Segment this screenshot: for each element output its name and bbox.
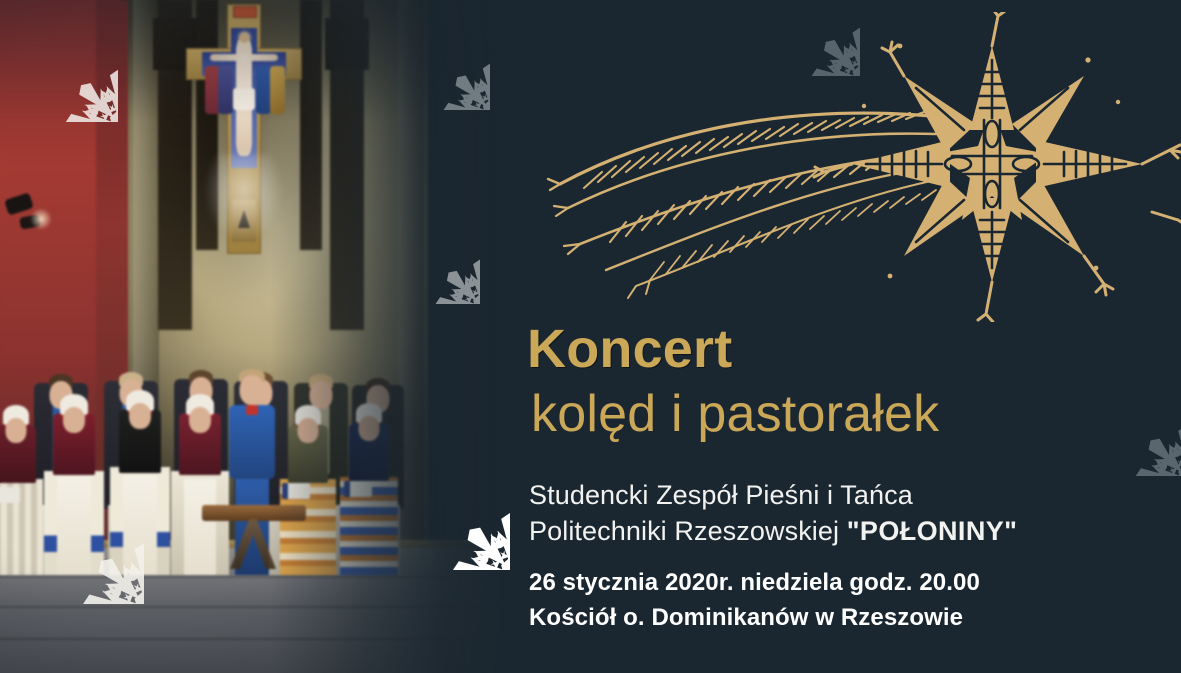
headline-line-2: kolęd i pastorałek: [531, 388, 939, 440]
crucifix-titulus: [233, 6, 257, 18]
choir-member: [282, 399, 334, 575]
crucifix-figure-3: [256, 66, 271, 114]
choir-member: [112, 385, 168, 575]
event-date-time: 26 stycznia 2020r. niedziela godz. 20.00: [529, 566, 980, 601]
concert-poster: Koncert kolęd i pastorałek Studencki Zes…: [0, 0, 1181, 673]
crucifix-loincloth: [233, 88, 255, 110]
ensemble-line-2-prefix: Politechniki Rzeszowskiej: [529, 516, 847, 546]
ensemble-line-2: Politechniki Rzeszowskiej "POŁONINY": [529, 514, 1017, 550]
crucifix-figure-2: [218, 66, 233, 114]
crucifix-christ-arms: [210, 54, 278, 61]
headline-line-1: Koncert: [527, 322, 732, 376]
choir-member: [0, 399, 42, 575]
choir-member-dulcimer-player: [216, 361, 288, 575]
event-details: 26 stycznia 2020r. niedziela godz. 20.00…: [529, 566, 980, 636]
stage-spotlight-beam: [30, 208, 52, 230]
choir-member: [342, 395, 396, 575]
step-line-1: [0, 576, 520, 578]
event-venue: Kościół o. Dominikanów w Rzeszowie: [529, 601, 980, 636]
step-line-3: [0, 638, 520, 640]
byzantine-painted-crucifix: [186, 4, 302, 254]
crucifix-figure-4: [270, 66, 285, 114]
ensemble-quoted-name: "POŁONINY": [847, 516, 1018, 546]
step-line-2: [0, 606, 520, 608]
choir-group: [0, 300, 424, 575]
ensemble-name: Studencki Zespół Pieśni i Tańca Politech…: [529, 478, 1017, 549]
poster-text-block: Koncert kolęd i pastorałek Studencki Zes…: [527, 0, 1167, 673]
folk-ensemble-in-church-photo: [0, 0, 520, 673]
crucifix-christ-head: [239, 32, 250, 43]
crucifix-light-glow: [204, 154, 284, 244]
dulcimer-instrument: [202, 505, 306, 521]
choir-member: [46, 389, 102, 575]
ensemble-line-1: Studencki Zespół Pieśni i Tańca: [529, 478, 1017, 514]
